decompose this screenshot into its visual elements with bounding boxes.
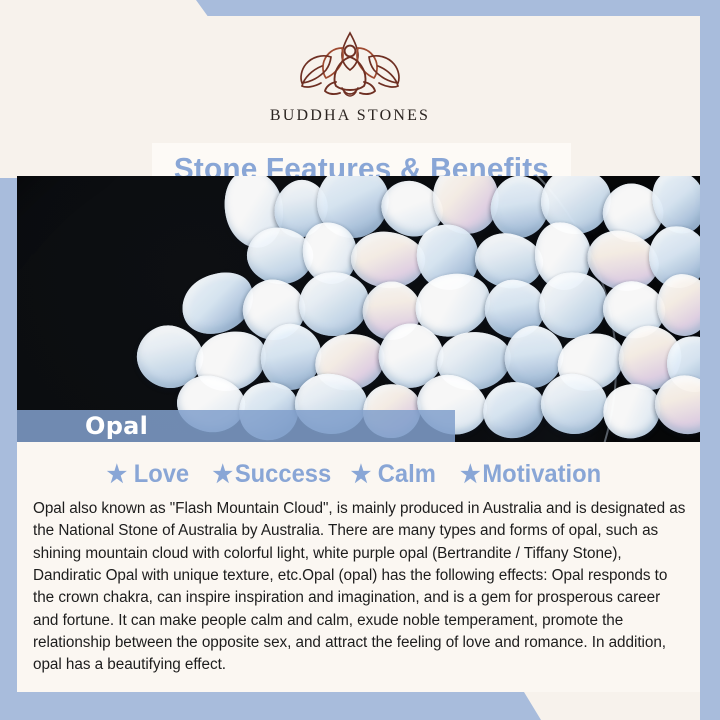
header: BUDDHA STONES Stone Features & Benefits xyxy=(0,16,700,178)
benefit-label: Success xyxy=(235,460,331,489)
photo-caption-band: Opal xyxy=(17,410,455,442)
decorative-left-blue-strip xyxy=(0,176,17,720)
content-panel: ★ Love ★ Success ★ Calm ★ Motivation Opa… xyxy=(17,442,700,692)
star-icon: ★ xyxy=(351,463,371,487)
star-icon: ★ xyxy=(107,463,127,487)
stone-photo xyxy=(17,176,700,442)
benefit-calm: ★ Calm xyxy=(351,460,453,489)
brand-name: BUDDHA STONES xyxy=(270,107,430,125)
decorative-bottom-blue-band xyxy=(0,692,720,720)
brand-logo: BUDDHA STONES xyxy=(0,26,700,125)
benefit-motivation: ★ Motivation xyxy=(460,460,614,489)
stone-name-label: Opal xyxy=(85,412,148,440)
star-icon: ★ xyxy=(460,463,480,487)
lotus-meditation-icon xyxy=(284,26,416,102)
benefit-love: ★ Love xyxy=(107,460,207,489)
infographic-page: BUDDHA STONES Stone Features & Benefits xyxy=(0,0,720,720)
benefits-row: ★ Love ★ Success ★ Calm ★ Motivation xyxy=(17,442,700,489)
star-icon: ★ xyxy=(213,463,233,487)
benefit-label: Calm xyxy=(378,460,436,489)
benefit-success: ★ Success xyxy=(213,460,345,489)
stone-description: Opal also known as "Flash Mountain Cloud… xyxy=(33,498,686,677)
benefit-label: Love xyxy=(134,460,189,489)
benefit-label: Motivation xyxy=(482,460,601,489)
decorative-right-blue-strip xyxy=(700,0,720,720)
